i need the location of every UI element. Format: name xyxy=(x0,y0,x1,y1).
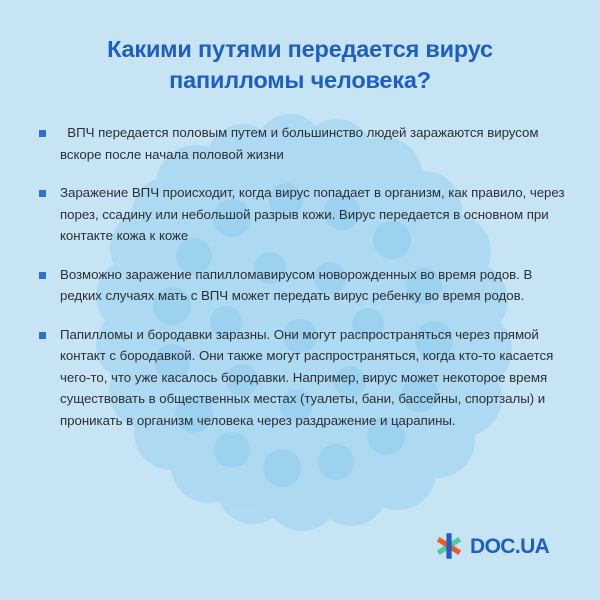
list-item-text: Заражение ВПЧ происходит, когда вирус по… xyxy=(60,182,566,247)
square-bullet-icon xyxy=(39,272,46,279)
list-item: Заражение ВПЧ происходит, когда вирус по… xyxy=(38,182,566,247)
bullet-list: ВПЧ передается половым путем и большинст… xyxy=(38,122,566,448)
list-item: Возможно заражение папилломавирусом ново… xyxy=(38,264,566,307)
docua-asterisk-logo-icon xyxy=(434,531,464,561)
list-item-text: Возможно заражение папилломавирусом ново… xyxy=(60,264,566,307)
page-title: Какими путями передается вирус папилломы… xyxy=(40,34,560,96)
list-item-text: Папилломы и бородавки заразны. Они могут… xyxy=(60,324,566,432)
infographic-page: Какими путями передается вирус папилломы… xyxy=(0,0,600,600)
list-item: ВПЧ передается половым путем и большинст… xyxy=(38,122,566,165)
square-bullet-icon xyxy=(39,130,46,137)
list-item-text: ВПЧ передается половым путем и большинст… xyxy=(60,122,566,165)
square-bullet-icon xyxy=(39,190,46,197)
list-item: Папилломы и бородавки заразны. Они могут… xyxy=(38,324,566,432)
docua-logo[interactable]: DOC.UA xyxy=(434,531,549,561)
square-bullet-icon xyxy=(39,332,46,339)
docua-logo-text: DOC.UA xyxy=(470,536,549,557)
